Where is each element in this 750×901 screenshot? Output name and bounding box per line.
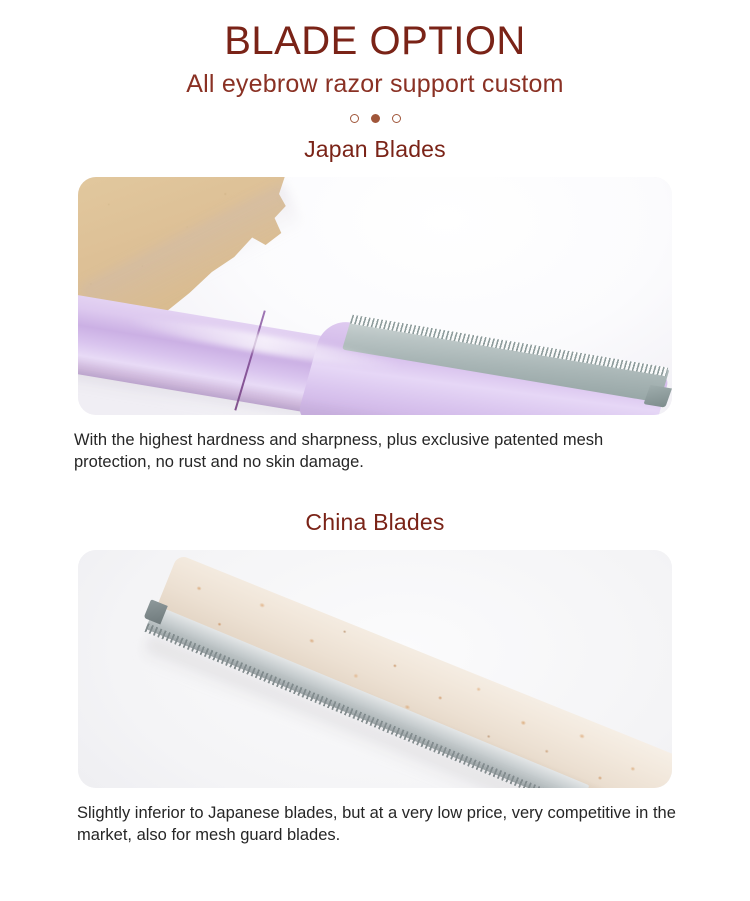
razor-blade-tip	[643, 385, 671, 408]
page-header: BLADE OPTION All eyebrow razor support c…	[0, 0, 750, 100]
pagination-dot-2-active[interactable]	[371, 114, 380, 123]
section-heading-japan-blades: Japan Blades	[0, 134, 750, 164]
caption-japan-blades: With the highest hardness and sharpness,…	[66, 429, 684, 473]
pagination-dots[interactable]	[0, 110, 750, 126]
caption-china-blades: Slightly inferior to Japanese blades, bu…	[63, 802, 687, 846]
product-image-china-blades	[78, 550, 672, 788]
section-heading-china-blades: China Blades	[0, 507, 750, 537]
pagination-dot-1[interactable]	[350, 114, 359, 123]
page-title: BLADE OPTION	[0, 18, 750, 64]
page-subtitle: All eyebrow razor support custom	[0, 68, 750, 100]
pagination-dot-3[interactable]	[392, 114, 401, 123]
section-spacer	[0, 473, 750, 507]
blade-option-page: BLADE OPTION All eyebrow razor support c…	[0, 0, 750, 901]
product-image-japan-blades	[78, 177, 672, 415]
